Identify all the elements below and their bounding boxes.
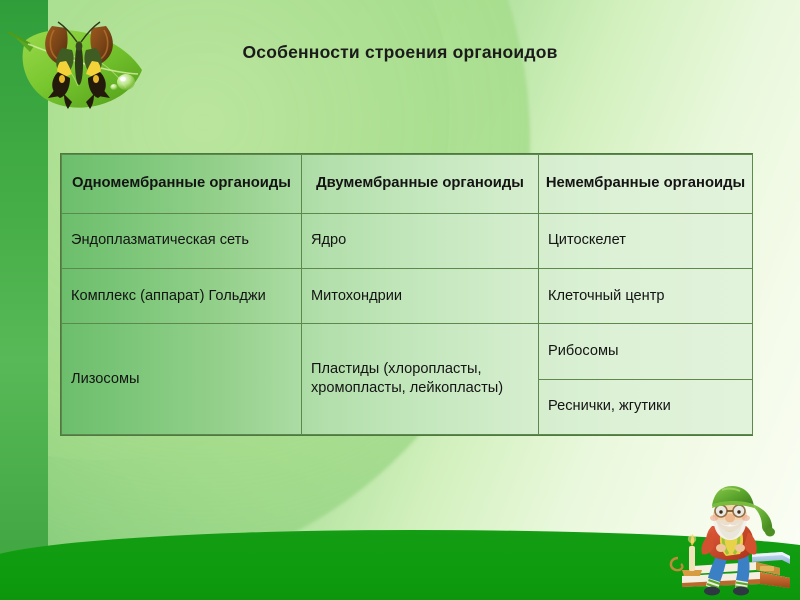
cell-one-membrane-2: Комплекс (аппарат) Гольджи: [62, 269, 302, 324]
column-header-one-membrane: Одномембранные органоиды: [62, 155, 302, 214]
gnome-on-books-illustration: [664, 484, 796, 596]
table-row: Лизосомы Пластиды (хлоропласты, хромопла…: [62, 324, 753, 379]
cell-one-membrane-3: Лизосомы: [62, 324, 302, 435]
organelles-table-wrapper: Одномембранные органоиды Двумембранные о…: [60, 153, 753, 436]
cell-non-membrane-3a: Рибосомы: [539, 324, 753, 379]
table-row: Эндоплазматическая сеть Ядро Цитоскелет: [62, 213, 753, 268]
cell-two-membrane-2: Митохондрии: [302, 269, 539, 324]
cell-two-membrane-3: Пластиды (хлоропласты, хромопласты, лейк…: [302, 324, 539, 435]
table-header-row: Одномембранные органоиды Двумембранные о…: [62, 155, 753, 214]
cell-two-membrane-1: Ядро: [302, 213, 539, 268]
butterfly-on-leaf-illustration: [8, 14, 158, 126]
table-row: Комплекс (аппарат) Гольджи Митохондрии К…: [62, 269, 753, 324]
cell-non-membrane-3b: Реснички, жгутики: [539, 379, 753, 434]
organelles-table: Одномембранные органоиды Двумембранные о…: [61, 154, 753, 435]
column-header-two-membrane: Двумембранные органоиды: [302, 155, 539, 214]
cell-non-membrane-1: Цитоскелет: [539, 213, 753, 268]
cell-one-membrane-1: Эндоплазматическая сеть: [62, 213, 302, 268]
cell-non-membrane-2: Клеточный центр: [539, 269, 753, 324]
column-header-non-membrane: Немембранные органоиды: [539, 155, 753, 214]
page-title: Особенности строения органоидов: [0, 42, 800, 63]
slide-canvas: Особенности строения органоидов Одномемб…: [0, 0, 800, 600]
